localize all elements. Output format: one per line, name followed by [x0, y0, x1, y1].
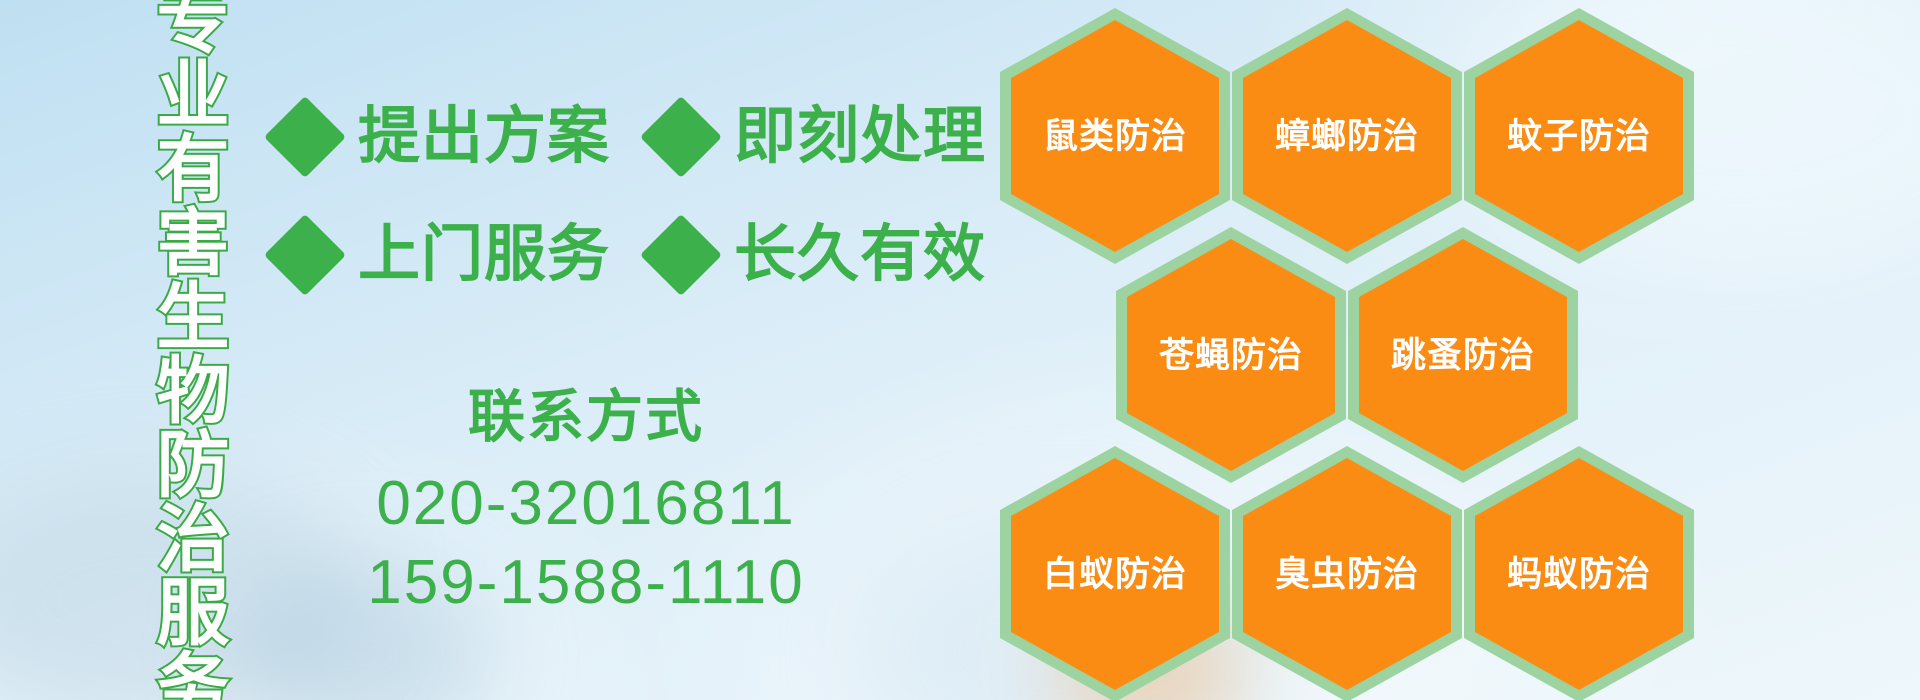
- vertical-headline: 专业有害生物防治服务: [112, 16, 224, 688]
- hexagon-inner: 白蚁防治: [1011, 458, 1219, 690]
- feature-item-long-lasting-effect: 长久有效: [652, 224, 986, 286]
- diamond-icon: [640, 96, 722, 178]
- service-hexagon-mosquito[interactable]: 蚊子防治: [1464, 8, 1694, 264]
- service-label: 苍蝇防治: [1159, 338, 1303, 373]
- feature-label: 长久有效: [734, 224, 986, 286]
- contact-block: 联系方式 020-32016811 159-1588-1110: [276, 388, 896, 623]
- service-hexagon-cockroach[interactable]: 蟑螂防治: [1232, 8, 1462, 264]
- feature-label: 上门服务: [358, 224, 610, 286]
- feature-item-propose-plan: 提出方案: [276, 106, 610, 168]
- service-hexagon-flea[interactable]: 跳蚤防治: [1348, 227, 1578, 483]
- feature-label: 提出方案: [358, 106, 610, 168]
- service-label: 蚂蚁防治: [1507, 557, 1651, 592]
- service-label: 蟑螂防治: [1275, 119, 1419, 154]
- hexagon-inner: 蟑螂防治: [1243, 20, 1451, 252]
- feature-item-door-to-door-service: 上门服务: [276, 224, 610, 286]
- feature-item-immediate-handling: 即刻处理: [652, 106, 986, 168]
- service-label: 臭虫防治: [1275, 557, 1419, 592]
- diamond-icon: [640, 214, 722, 296]
- service-label: 跳蚤防治: [1391, 338, 1535, 373]
- feature-row: 上门服务 长久有效: [276, 196, 876, 314]
- hexagon-inner: 鼠类防治: [1011, 20, 1219, 252]
- hexagon-inner: 蚂蚁防治: [1475, 458, 1683, 690]
- feature-row: 提出方案 即刻处理: [276, 78, 876, 196]
- hexagon-inner: 苍蝇防治: [1127, 239, 1335, 471]
- service-hexagon-rodent[interactable]: 鼠类防治: [1000, 8, 1230, 264]
- service-label: 鼠类防治: [1043, 119, 1187, 154]
- service-label: 白蚁防治: [1043, 557, 1187, 592]
- service-label: 蚊子防治: [1507, 119, 1651, 154]
- hexagon-inner: 蚊子防治: [1475, 20, 1683, 252]
- service-hexagon-fly[interactable]: 苍蝇防治: [1116, 227, 1346, 483]
- hexagon-inner: 臭虫防治: [1243, 458, 1451, 690]
- service-hexagon-ant[interactable]: 蚂蚁防治: [1464, 446, 1694, 700]
- diamond-icon: [264, 96, 346, 178]
- feature-label: 即刻处理: [734, 106, 986, 168]
- phone-landline[interactable]: 020-32016811: [276, 464, 896, 543]
- contact-title: 联系方式: [276, 388, 896, 448]
- service-hexagon-bedbug[interactable]: 臭虫防治: [1232, 446, 1462, 700]
- diamond-icon: [264, 214, 346, 296]
- promotional-banner: 专业有害生物防治服务 提出方案 即刻处理 上门服务 长久有效 联系方式: [0, 0, 1920, 700]
- feature-list: 提出方案 即刻处理 上门服务 长久有效: [276, 78, 876, 314]
- phone-mobile[interactable]: 159-1588-1110: [276, 543, 896, 622]
- service-hexagon-termite[interactable]: 白蚁防治: [1000, 446, 1230, 700]
- hexagon-inner: 跳蚤防治: [1359, 239, 1567, 471]
- service-hexagon-grid: 鼠类防治 蟑螂防治 蚊子防治 苍蝇防治 跳蚤防治 白蚁防治: [1040, 0, 1920, 700]
